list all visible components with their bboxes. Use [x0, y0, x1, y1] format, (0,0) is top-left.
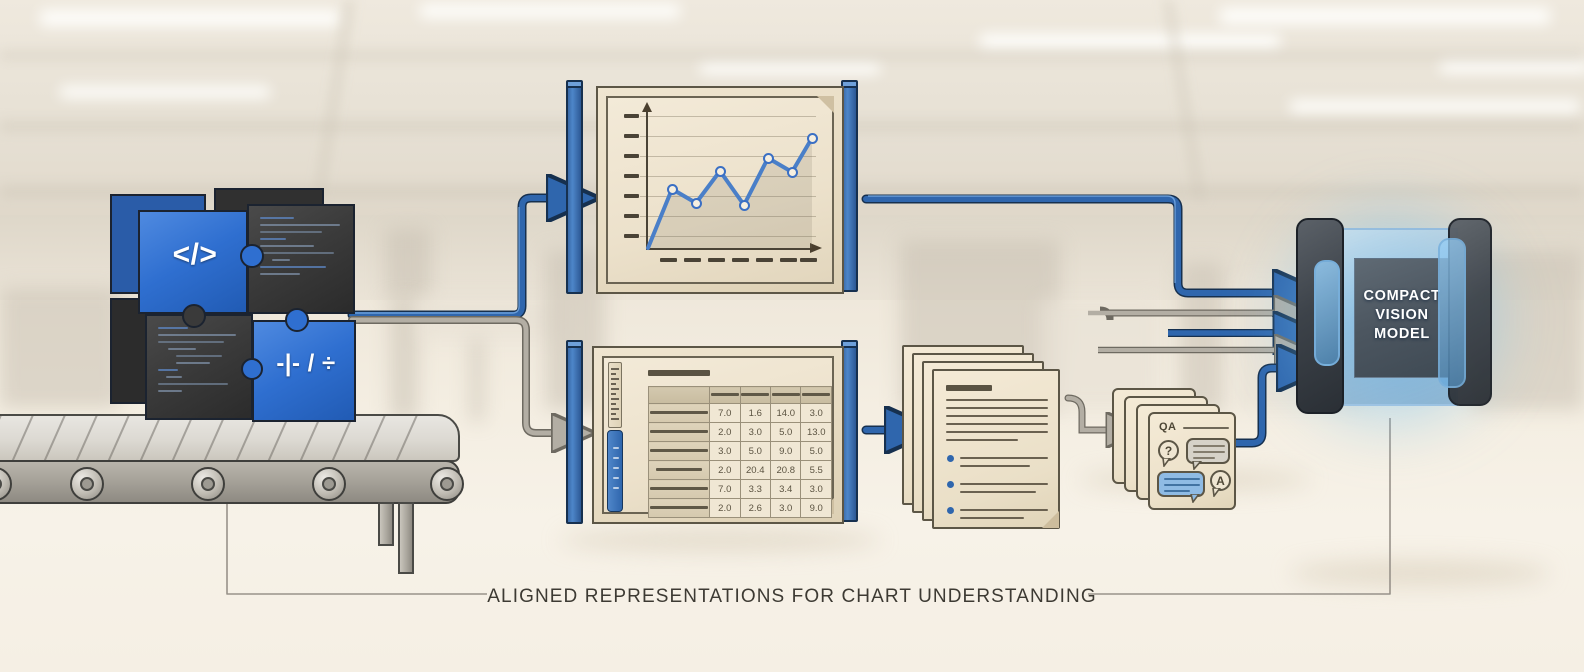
- qa-label: QA: [1159, 421, 1177, 433]
- line-plot: [640, 110, 816, 254]
- data-point: [667, 184, 678, 195]
- table-row-label: [649, 423, 710, 442]
- table-cell: 2.0: [710, 499, 740, 518]
- table-cell: 20.8: [771, 461, 801, 480]
- bubble-tail: [1212, 488, 1222, 497]
- conveyor-belt: [0, 414, 486, 522]
- data-point: [739, 200, 750, 211]
- belt-roller: [70, 467, 104, 501]
- conveyor-leg: [398, 502, 414, 574]
- page-fold-icon: [817, 96, 834, 113]
- table-cell: 3.3: [740, 480, 770, 499]
- model-core: COMPACT VISION MODEL: [1354, 258, 1450, 378]
- code-puzzle-group: </>: [110, 186, 360, 426]
- table-row: 3.05.09.05.0: [649, 442, 832, 461]
- puzzle-piece-script[interactable]: [145, 314, 253, 420]
- puzzle-piece-code[interactable]: </>: [138, 210, 248, 314]
- table-cell: 2.6: [740, 499, 770, 518]
- chart-series: [640, 110, 816, 254]
- math-glyph: -|- / ÷: [254, 350, 358, 378]
- page-fold-icon: [1042, 511, 1059, 528]
- table-cell: 2.0: [710, 461, 740, 480]
- table-row-label: [649, 461, 710, 480]
- data-point: [787, 167, 798, 178]
- panel-post-cap: [566, 340, 583, 348]
- table-cell: 13.0: [801, 423, 832, 442]
- table-row: 7.03.33.43.0: [649, 480, 832, 499]
- belt-frame: [0, 460, 460, 504]
- chart-sheet: [596, 86, 844, 294]
- code-lines: [260, 217, 344, 280]
- table-cell: 5.0: [771, 423, 801, 442]
- model-label-line2: VISION: [1355, 306, 1449, 325]
- table-header-cell: [710, 387, 740, 404]
- model-back-lens: [1438, 238, 1466, 388]
- table-cell: 5.0: [801, 442, 832, 461]
- chart-sheet-inner: [606, 96, 834, 284]
- qa-card-front: QA ? A: [1148, 412, 1236, 510]
- table-cell: 3.0: [801, 480, 832, 499]
- table-cell: 3.0: [740, 423, 770, 442]
- model-label-line1: COMPACT: [1355, 287, 1449, 306]
- panel-post-left: [566, 86, 583, 294]
- table-header-cell: [771, 387, 801, 404]
- scroll-handle[interactable]: [607, 430, 623, 512]
- table-cell: 14.0: [771, 404, 801, 423]
- qa-card-stack[interactable]: QA ? A: [1112, 388, 1232, 508]
- table-sheet: 7.01.614.03.02.03.05.013.03.05.09.05.02.…: [592, 346, 844, 524]
- puzzle-knob: [182, 304, 206, 328]
- chart-panel[interactable]: [566, 78, 866, 300]
- table-cell: 5.5: [801, 461, 832, 480]
- model-front-lens: [1314, 260, 1340, 366]
- puzzle-piece-math[interactable]: -|- / ÷: [252, 320, 356, 422]
- data-table: 7.01.614.03.02.03.05.013.03.05.09.05.02.…: [648, 386, 832, 518]
- data-point: [715, 166, 726, 177]
- puzzle-knob: [285, 308, 309, 332]
- conveyor-leg: [378, 502, 394, 546]
- answer-glyph: A: [1216, 474, 1225, 488]
- puzzle-knob: [241, 358, 263, 380]
- table-row-label: [649, 480, 710, 499]
- table-cell: 9.0: [771, 442, 801, 461]
- table-row: 2.03.05.013.0: [649, 423, 832, 442]
- table-row-label: [649, 499, 710, 518]
- compact-vision-model[interactable]: COMPACT VISION MODEL: [1288, 218, 1496, 418]
- figure-caption: ALIGNED REPRESENTATIONS FOR CHART UNDERS…: [0, 586, 1584, 608]
- table-cell: 20.4: [740, 461, 770, 480]
- code-glyph: </>: [140, 238, 250, 272]
- belt-roller: [191, 467, 225, 501]
- table-row-label: [649, 442, 710, 461]
- panel-post-cap: [566, 80, 583, 88]
- table-row: 7.01.614.03.0: [649, 404, 832, 423]
- table-row: 2.02.63.09.0: [649, 499, 832, 518]
- table-cell: 3.0: [710, 442, 740, 461]
- diagram-canvas: </>: [0, 0, 1584, 672]
- data-point: [807, 133, 818, 144]
- document-page-front: [932, 369, 1060, 529]
- panel-post-left: [566, 346, 583, 524]
- table-cell: 7.0: [710, 404, 740, 423]
- bubble-tail: [1190, 494, 1200, 503]
- table-cell: 3.0: [771, 499, 801, 518]
- table-header-cell: [649, 387, 710, 404]
- model-label-line3: MODEL: [1355, 325, 1449, 344]
- code-lines: [158, 327, 242, 397]
- table-cell: 7.0: [710, 480, 740, 499]
- model-label: COMPACT VISION MODEL: [1355, 287, 1449, 344]
- data-point: [763, 153, 774, 164]
- table-cell: 5.0: [740, 442, 770, 461]
- table-cell: 3.0: [801, 404, 832, 423]
- puzzle-knob: [240, 244, 264, 268]
- bubble-tail: [1162, 458, 1172, 467]
- bubble-tail: [1192, 461, 1202, 470]
- data-point: [691, 198, 702, 209]
- belt-roller: [312, 467, 346, 501]
- table-sheet-inner: 7.01.614.03.02.03.05.013.03.05.09.05.02.…: [602, 356, 834, 514]
- table-header-row: [649, 387, 832, 404]
- table-row: 2.020.420.85.5: [649, 461, 832, 480]
- table-header-cell: [740, 387, 770, 404]
- table-cell: 9.0: [801, 499, 832, 518]
- table-panel[interactable]: 7.01.614.03.02.03.05.013.03.05.09.05.02.…: [566, 340, 866, 530]
- document-stack[interactable]: [902, 345, 1072, 530]
- table-header-cell: [801, 387, 832, 404]
- table-title-bar: [648, 370, 710, 376]
- table-cell: 2.0: [710, 423, 740, 442]
- question-glyph: ?: [1165, 444, 1172, 458]
- table-cell: 3.4: [771, 480, 801, 499]
- table-row-label: [649, 404, 710, 423]
- belt-roller: [430, 467, 464, 501]
- ruler: [608, 362, 622, 428]
- table-cell: 1.6: [740, 404, 770, 423]
